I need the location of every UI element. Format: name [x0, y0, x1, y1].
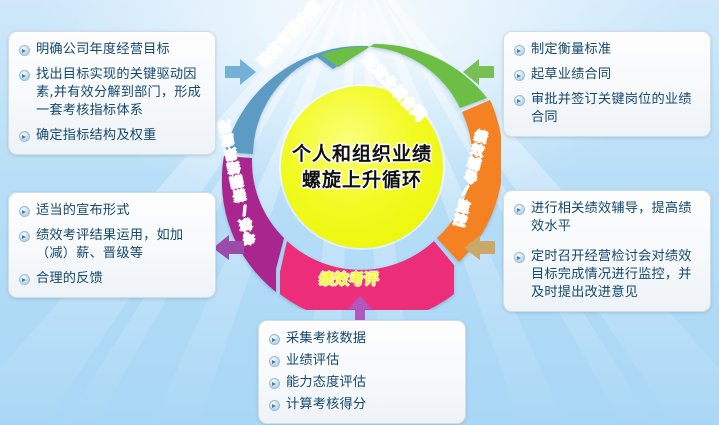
result-apply-list: 适当的宣布形式 绩效考评结果运用，如加（减）薪、晋级等 合理的反馈 [17, 202, 205, 288]
bullet-arrow-icon [19, 274, 30, 285]
bullet-arrow-icon [269, 356, 280, 367]
list-item-label: 制定衡量标准 [531, 42, 611, 57]
diagram-canvas: 个人和组织业绩 螺旋上升循环 确定考核内容 签定业绩合同 绩效辅导/监控 绩效考… [0, 0, 719, 425]
bullet-arrow-icon [19, 45, 30, 56]
list-item-label: 合理的反馈 [36, 271, 103, 286]
list-item-label: 明确公司年度经营目标 [36, 42, 170, 57]
list-item-label: 采集考核数据 [286, 331, 366, 346]
bullet-arrow-icon [19, 231, 30, 242]
list-item: 找出目标实现的关键驱动因素,并有效分解到部门，形成一套考核指标体系 [17, 66, 205, 120]
sign-contract-list: 制定衡量标准 起草业绩合同 审批并签订关键岗位的业绩合同 [512, 41, 700, 127]
list-item-label: 能力态度评估 [286, 375, 366, 390]
arrow-to-result-apply [212, 234, 244, 262]
list-item: 定时召开经营检讨会对绩效目标完成情况进行监控，并及时提出改进意见 [512, 248, 700, 302]
arrow-to-sign-contract [462, 57, 494, 87]
bullet-arrow-icon [19, 206, 30, 217]
core-title-line-1: 个人和组织业绩 [292, 141, 432, 167]
bullet-arrow-icon [19, 70, 30, 81]
list-item-label: 业绩评估 [286, 353, 340, 368]
list-item: 采集考核数据 [267, 330, 455, 348]
list-item: 制定衡量标准 [512, 41, 700, 59]
list-item: 审批并签订关键岗位的业绩合同 [512, 91, 700, 127]
list-item: 合理的反馈 [17, 270, 205, 288]
list-item-label: 审批并签订关键岗位的业绩合同 [531, 92, 692, 125]
segment-result-apply[interactable] [222, 156, 284, 292]
define-content-list: 明确公司年度经营目标 找出目标实现的关键驱动因素,并有效分解到部门，形成一套考核… [17, 41, 205, 145]
wheel-core: 个人和组织业绩 螺旋上升循环 [281, 86, 443, 248]
arrow-to-define-content [225, 57, 257, 87]
list-item: 起草业绩合同 [512, 66, 700, 84]
bullet-arrow-icon [514, 252, 525, 263]
list-item: 业绩评估 [267, 352, 455, 370]
arrow-to-coach-monitor [463, 234, 495, 262]
list-item: 能力态度评估 [267, 374, 455, 392]
define-content-card: 明确公司年度经营目标 找出目标实现的关键驱动因素,并有效分解到部门，形成一套考核… [8, 31, 216, 155]
appraisal-list: 采集考核数据 业绩评估 能力态度评估 计算考核得分 [267, 330, 455, 414]
bullet-arrow-icon [269, 400, 280, 411]
sign-contract-card: 制定衡量标准 起草业绩合同 审批并签订关键岗位的业绩合同 [503, 31, 711, 137]
list-item: 适当的宣布形式 [17, 202, 205, 220]
list-item-label: 绩效考评结果运用，如加（减）薪、晋级等 [36, 228, 183, 261]
list-item-label: 适当的宣布形式 [36, 203, 130, 218]
bullet-arrow-icon [514, 45, 525, 56]
bullet-arrow-icon [514, 95, 525, 106]
core-title-line-2: 螺旋上升循环 [302, 167, 422, 193]
coach-monitor-card: 进行相关绩效辅导，提高绩效水平 定时召开经营检讨会对绩效目标完成情况进行监控，并… [503, 190, 711, 312]
bullet-arrow-icon [19, 131, 30, 142]
list-item: 确定指标结构及权重 [17, 127, 205, 145]
coach-monitor-list: 进行相关绩效辅导，提高绩效水平 定时召开经营检讨会对绩效目标完成情况进行监控，并… [512, 200, 700, 302]
bullet-arrow-icon [514, 70, 525, 81]
list-item-label: 定时召开经营检讨会对绩效目标完成情况进行监控，并及时提出改进意见 [531, 249, 692, 300]
list-item-label: 计算考核得分 [286, 397, 366, 412]
list-item: 绩效考评结果运用，如加（减）薪、晋级等 [17, 227, 205, 263]
list-item-label: 找出目标实现的关键驱动因素,并有效分解到部门，形成一套考核指标体系 [36, 67, 201, 118]
list-item: 进行相关绩效辅导，提高绩效水平 [512, 200, 700, 236]
list-item-label: 起草业绩合同 [531, 67, 611, 82]
appraisal-card: 采集考核数据 业绩评估 能力态度评估 计算考核得分 [258, 320, 466, 424]
bullet-arrow-icon [269, 378, 280, 389]
bullet-arrow-icon [514, 204, 525, 215]
list-item: 明确公司年度经营目标 [17, 41, 205, 59]
result-apply-card: 适当的宣布形式 绩效考评结果运用，如加（减）薪、晋级等 合理的反馈 [8, 192, 216, 298]
performance-cycle-wheel: 个人和组织业绩 螺旋上升循环 确定考核内容 签定业绩合同 绩效辅导/监控 绩效考… [221, 22, 501, 310]
list-item-label: 进行相关绩效辅导，提高绩效水平 [531, 201, 692, 234]
bullet-arrow-icon [269, 334, 280, 345]
list-item-label: 确定指标结构及权重 [36, 128, 157, 143]
list-item: 计算考核得分 [267, 396, 455, 414]
